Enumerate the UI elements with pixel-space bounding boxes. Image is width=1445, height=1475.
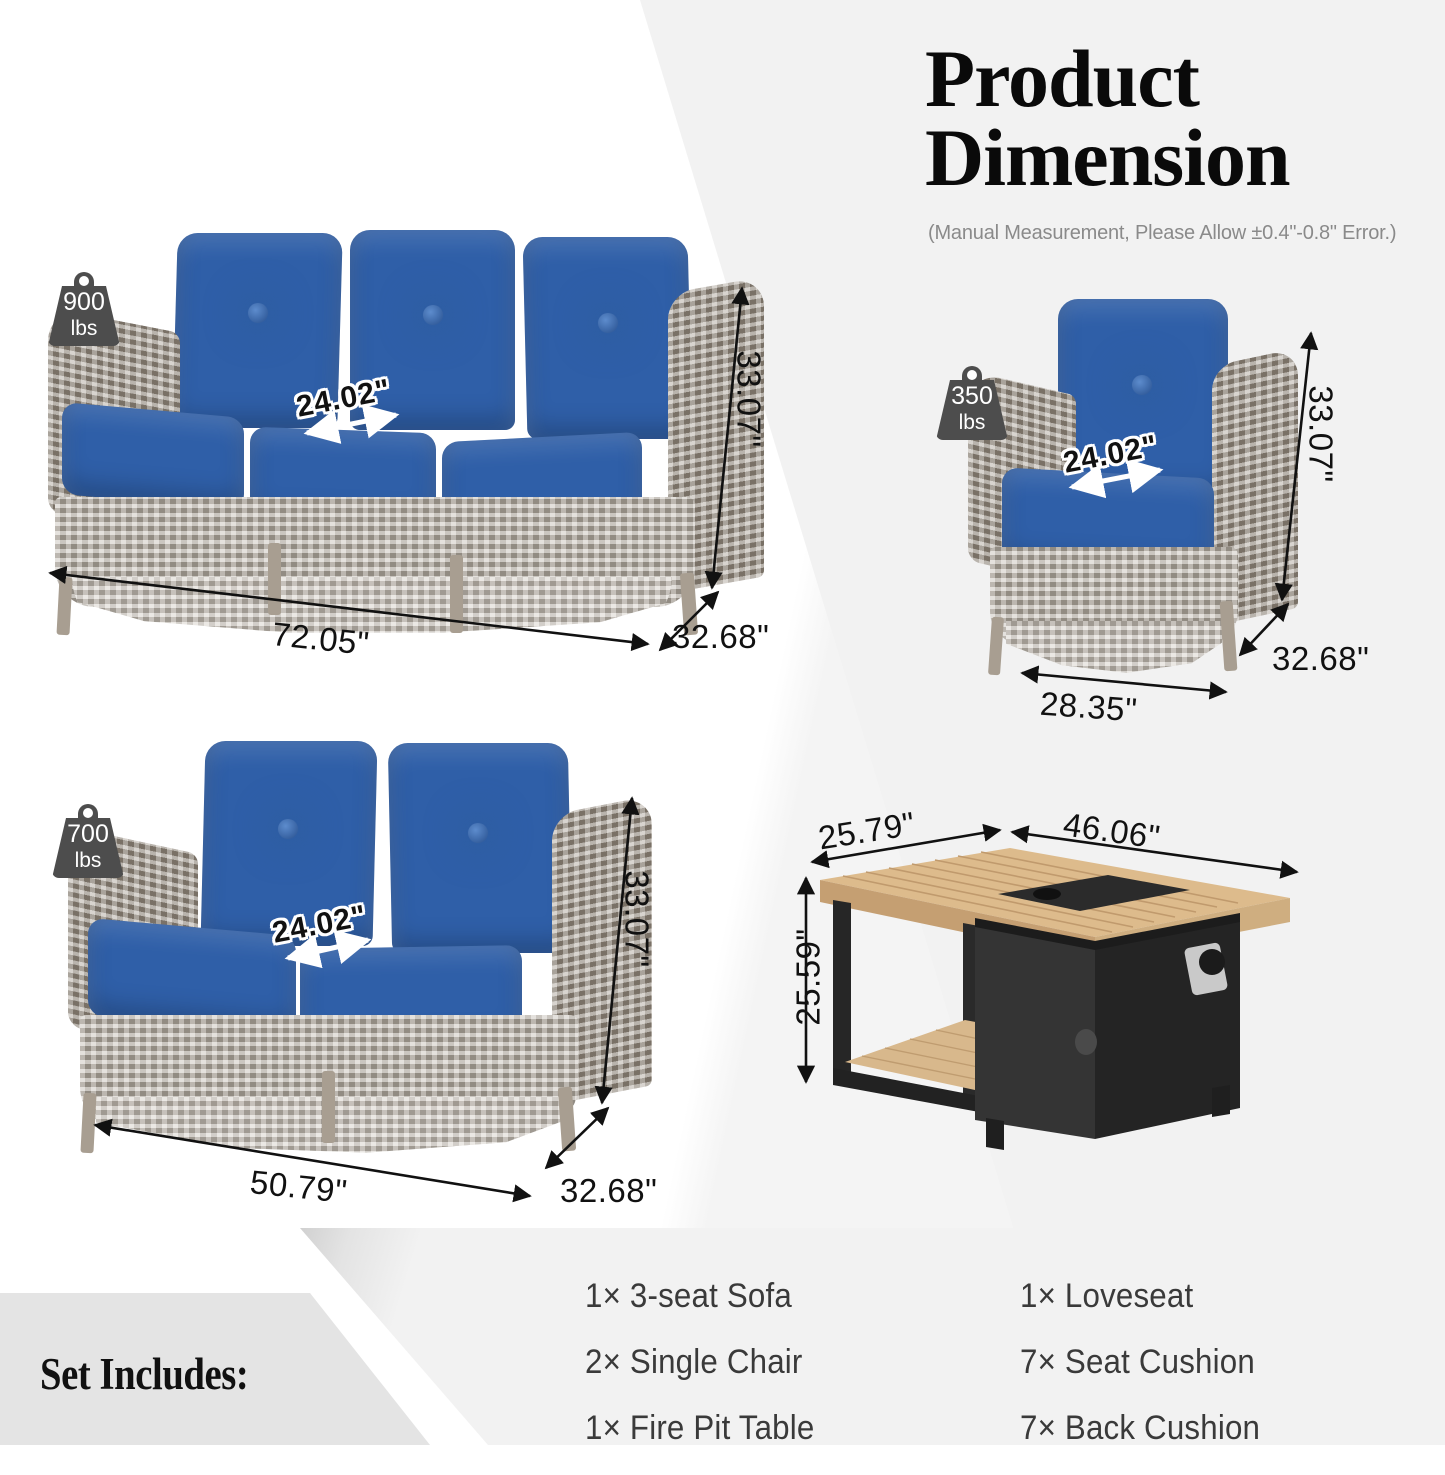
sofa-leg-3 (450, 555, 463, 633)
set-includes-column-2: 1× Loveseat 7× Seat Cushion 7× Back Cush… (1020, 1277, 1281, 1475)
list-item: 7× Seat Cushion (1020, 1343, 1260, 1382)
sofa-seat-cushion-1 (62, 402, 244, 510)
sofa-base-apron (72, 577, 672, 635)
sofa-leg-2 (268, 543, 281, 615)
weight-icon-handle-hole (79, 276, 89, 286)
chair-leg-1 (988, 617, 1004, 676)
loveseat-back-tuft-1 (278, 819, 298, 839)
chair-height-label: 33.07" (1302, 385, 1340, 482)
table-height-label: 25.59" (790, 928, 828, 1025)
loveseat-weight-capacity-badge: 700 lbs (52, 800, 124, 878)
chair-capacity-unit: lbs (936, 412, 1008, 433)
weight-icon-handle-hole (967, 370, 977, 380)
page-title-line1: Product (925, 40, 1415, 119)
loveseat-capacity-unit: lbs (52, 850, 124, 871)
list-item: 1× Fire Pit Table (585, 1409, 814, 1448)
sofa-capacity-value: 900 (48, 290, 120, 315)
product-loveseat-illustration (60, 735, 660, 1155)
chair-depth-label: 32.68" (1272, 640, 1369, 678)
loveseat-back-cushion-2 (388, 743, 572, 953)
sofa-back-tuft-3 (598, 313, 618, 333)
product-sofa-illustration (20, 225, 780, 645)
loveseat-leg-2 (322, 1071, 335, 1143)
page-title-line2: Dimension (925, 119, 1415, 198)
sofa-depth-label: 32.68" (672, 618, 769, 656)
sofa-height-label: 33.07" (730, 350, 768, 447)
sofa-capacity-unit: lbs (48, 318, 120, 339)
list-item: 1× Loveseat (1020, 1277, 1260, 1316)
set-includes-column-1: 1× 3-seat Sofa 2× Single Chair 1× Fire P… (585, 1277, 834, 1475)
loveseat-depth-label: 32.68" (560, 1172, 657, 1210)
loveseat-height-label: 33.07" (618, 870, 656, 967)
chair-capacity-value: 350 (936, 384, 1008, 409)
chair-base-apron (1006, 621, 1222, 675)
sofa-back-cushion-3 (523, 237, 693, 439)
weight-icon-handle-hole (83, 808, 93, 818)
loveseat-width-label: 50.79" (248, 1163, 349, 1211)
infographic-canvas: Product Dimension (Manual Measurement, P… (0, 0, 1445, 1445)
product-chair-illustration (950, 295, 1310, 695)
chair-back-tuft (1132, 375, 1152, 395)
loveseat-leg-1 (80, 1093, 96, 1154)
list-item: 1× 3-seat Sofa (585, 1277, 814, 1316)
list-item: 2× Single Chair (585, 1343, 814, 1382)
page-title: Product Dimension (925, 40, 1415, 197)
sofa-leg-1 (56, 577, 72, 636)
sofa-back-tuft-1 (248, 303, 268, 323)
loveseat-capacity-value: 700 (52, 822, 124, 847)
set-includes-title: Set Includes: (40, 1348, 248, 1400)
list-item: 7× Back Cushion (1020, 1409, 1260, 1448)
chair-width-label: 28.35" (1039, 685, 1139, 730)
sofa-weight-capacity-badge: 900 lbs (48, 268, 120, 346)
loveseat-back-tuft-2 (468, 823, 488, 843)
measurement-disclaimer: (Manual Measurement, Please Allow ±0.4"-… (928, 222, 1428, 245)
chair-weight-capacity-badge: 350 lbs (936, 362, 1008, 440)
sofa-back-tuft-2 (423, 305, 443, 325)
